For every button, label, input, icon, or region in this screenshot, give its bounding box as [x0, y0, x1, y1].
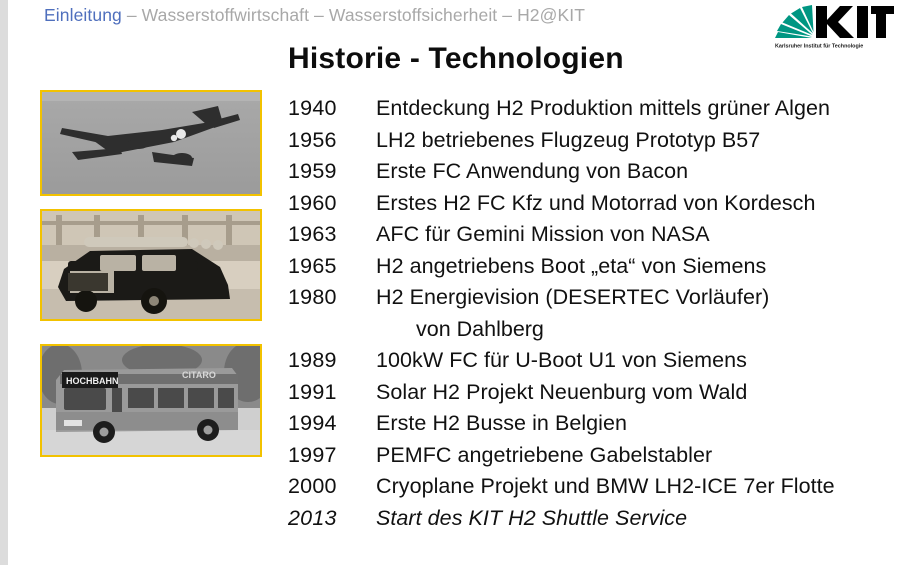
kit-logo-icon: Karlsruher Institut für Technologie: [772, 2, 894, 50]
timeline-row: 1959 Erste FC Anwendung von Bacon: [288, 159, 898, 191]
timeline-row: 1960 Erstes H2 FC Kfz und Motorrad von K…: [288, 191, 898, 223]
kit-wordmark: [816, 6, 894, 38]
b57-aircraft-image: [42, 92, 260, 194]
timeline-row: 1989 100kW FC für U-Boot U1 von Siemens: [288, 348, 898, 380]
timeline-row: 1997 PEMFC angetriebene Gabelstabler: [288, 443, 898, 475]
slide: Einleitung – Wasserstoffwirtschaft – Was…: [0, 0, 903, 565]
breadcrumb-separator: –: [127, 5, 137, 25]
timeline-year: 2013: [288, 506, 376, 531]
timeline-year: 1940: [288, 96, 376, 121]
timeline-text: H2 angetriebens Boot „eta“ von Siemens: [376, 254, 766, 279]
kit-logo-rays-icon: [775, 5, 814, 38]
citaro-bus-image: HOCHBAHN CITARO: [42, 346, 260, 455]
kit-logo: Karlsruher Institut für Technologie: [772, 2, 894, 50]
left-edge-strip: [0, 0, 8, 565]
timeline-text: Solar H2 Projekt Neuenburg vom Wald: [376, 380, 747, 405]
timeline-text: AFC für Gemini Mission von NASA: [376, 222, 710, 247]
timeline-year: 1997: [288, 443, 376, 468]
breadcrumb-separator: –: [314, 5, 324, 25]
timeline-year: 1991: [288, 380, 376, 405]
breadcrumb-item-h2-at-kit[interactable]: H2@KIT: [517, 5, 585, 25]
breadcrumb-item-wasserstoffwirtschaft[interactable]: Wasserstoffwirtschaft: [142, 5, 309, 25]
timeline-text: 100kW FC für U-Boot U1 von Siemens: [376, 348, 747, 373]
timeline-list: 1940 Entdeckung H2 Produktion mittels gr…: [288, 96, 898, 537]
breadcrumb-item-wasserstoffsicherheit[interactable]: Wasserstoffsicherheit: [329, 5, 497, 25]
timeline-year: 2000: [288, 474, 376, 499]
timeline-text: Start des KIT H2 Shuttle Service: [376, 506, 687, 531]
timeline-year: 1960: [288, 191, 376, 216]
timeline-row: 1980 H2 Energievision (DESERTEC Vorläufe…: [288, 285, 898, 317]
timeline-row: 1940 Entdeckung H2 Produktion mittels gr…: [288, 96, 898, 128]
kit-logo-subtitle: Karlsruher Institut für Technologie: [775, 44, 863, 50]
timeline-text: PEMFC angetriebene Gabelstabler: [376, 443, 712, 468]
breadcrumb-separator: –: [502, 5, 512, 25]
timeline-text: Entdeckung H2 Produktion mittels grüner …: [376, 96, 830, 121]
timeline-text-continuation: von Dahlberg: [288, 317, 898, 349]
timeline-text: Cryoplane Projekt und BMW LH2-ICE 7er Fl…: [376, 474, 835, 499]
timeline-text: Erstes H2 FC Kfz und Motorrad von Kordes…: [376, 191, 815, 216]
timeline-year: 1956: [288, 128, 376, 153]
timeline-year: 1965: [288, 254, 376, 279]
timeline-year: 1963: [288, 222, 376, 247]
timeline-row: 1963 AFC für Gemini Mission von NASA: [288, 222, 898, 254]
timeline-year: 1994: [288, 411, 376, 436]
timeline-year: 1989: [288, 348, 376, 373]
page-title: Historie - Technologien: [288, 42, 624, 76]
bus-destination-text: HOCHBAHN: [66, 376, 119, 386]
timeline-year: 1980: [288, 285, 376, 310]
timeline-row: 2013 Start des KIT H2 Shuttle Service: [288, 506, 898, 538]
timeline-text: LH2 betriebenes Flugzeug Prototyp B57: [376, 128, 760, 153]
timeline-row: 1991 Solar H2 Projekt Neuenburg vom Wald: [288, 380, 898, 412]
timeline-row: 1965 H2 angetriebens Boot „eta“ von Siem…: [288, 254, 898, 286]
timeline-row: 1994 Erste H2 Busse in Belgien: [288, 411, 898, 443]
kordesch-car-image: [42, 211, 260, 319]
breadcrumb: Einleitung – Wasserstoffwirtschaft – Was…: [44, 5, 585, 26]
timeline-year: 1959: [288, 159, 376, 184]
timeline-text: Erste H2 Busse in Belgien: [376, 411, 627, 436]
timeline-row: 1956 LH2 betriebenes Flugzeug Prototyp B…: [288, 128, 898, 160]
citaro-hochbahn-fuel-cell-bus-photo: HOCHBAHN CITARO: [40, 344, 262, 457]
b57-aircraft-photo: [40, 90, 262, 196]
timeline-text: H2 Energievision (DESERTEC Vorläufer): [376, 285, 769, 310]
kordesch-fuel-cell-car-photo: [40, 209, 262, 321]
breadcrumb-item-einleitung[interactable]: Einleitung: [44, 5, 122, 25]
timeline-text: Erste FC Anwendung von Bacon: [376, 159, 688, 184]
bus-model-text: CITARO: [182, 370, 216, 380]
timeline-row: 2000 Cryoplane Projekt und BMW LH2-ICE 7…: [288, 474, 898, 506]
